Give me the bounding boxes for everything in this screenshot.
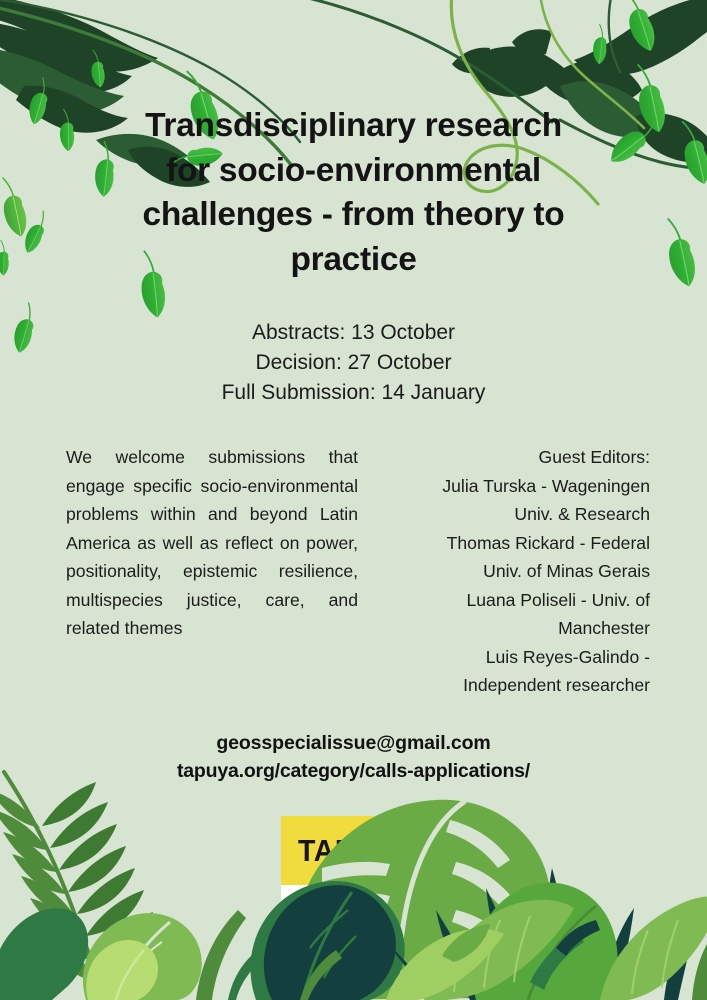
contact-email[interactable]: geosspecialissue@gmail.com [0, 730, 707, 758]
editor-line-6: Manchester [370, 614, 650, 643]
logo-tagline-line-1: LATIN AMERICAN SCIENCE, [306, 897, 406, 909]
page-title: Transdisciplinary research for socio-env… [60, 104, 647, 282]
editor-line-7: Luis Reyes-Galindo - [370, 643, 650, 672]
call-for-papers-poster: Transdisciplinary research for socio-env… [0, 0, 707, 1000]
editor-line-4: Univ. of Minas Gerais [370, 557, 650, 586]
logo-wordmark-band: TAPUYA [281, 816, 431, 885]
contact-block: geosspecialissue@gmail.com tapuya.org/ca… [0, 730, 707, 785]
date-decision: Decision: 27 October [60, 348, 647, 378]
logo-wordmark: TAPUYA [298, 833, 413, 869]
logo-tagline-band: LATIN AMERICAN SCIENCE, TECHNOLOGY AND S… [281, 885, 431, 942]
date-abstracts: Abstracts: 13 October [60, 318, 647, 348]
editor-line-8: Independent researcher [370, 671, 650, 700]
title-line-3: challenges - from theory to [60, 193, 647, 238]
tapuya-logo: TAPUYA LATIN AMERICAN SCIENCE, TECHNOLOG… [281, 816, 431, 942]
title-line-1: Transdisciplinary research [60, 104, 647, 149]
editor-line-2: Univ. & Research [370, 500, 650, 529]
call-description: We welcome submissions that engage speci… [66, 443, 358, 643]
contact-url[interactable]: tapuya.org/category/calls-applications/ [0, 758, 707, 786]
editor-line-1: Julia Turska - Wageningen [370, 472, 650, 501]
poster-content: Transdisciplinary research for socio-env… [0, 0, 707, 1000]
logo-tagline-line-2: TECHNOLOGY AND SOCIETY [303, 909, 408, 921]
date-full-submission: Full Submission: 14 January [60, 378, 647, 408]
key-dates: Abstracts: 13 October Decision: 27 Octob… [60, 318, 647, 409]
title-line-2: for socio-environmental [60, 149, 647, 194]
two-column-section: We welcome submissions that engage speci… [0, 443, 707, 700]
guest-editors-list: Guest Editors: Julia Turska - Wageningen… [370, 443, 650, 700]
editor-line-3: Thomas Rickard - Federal [370, 529, 650, 558]
guest-editors-heading: Guest Editors: [370, 443, 650, 472]
title-line-4: practice [60, 238, 647, 283]
editor-line-5: Luana Poliseli - Univ. of [370, 586, 650, 615]
